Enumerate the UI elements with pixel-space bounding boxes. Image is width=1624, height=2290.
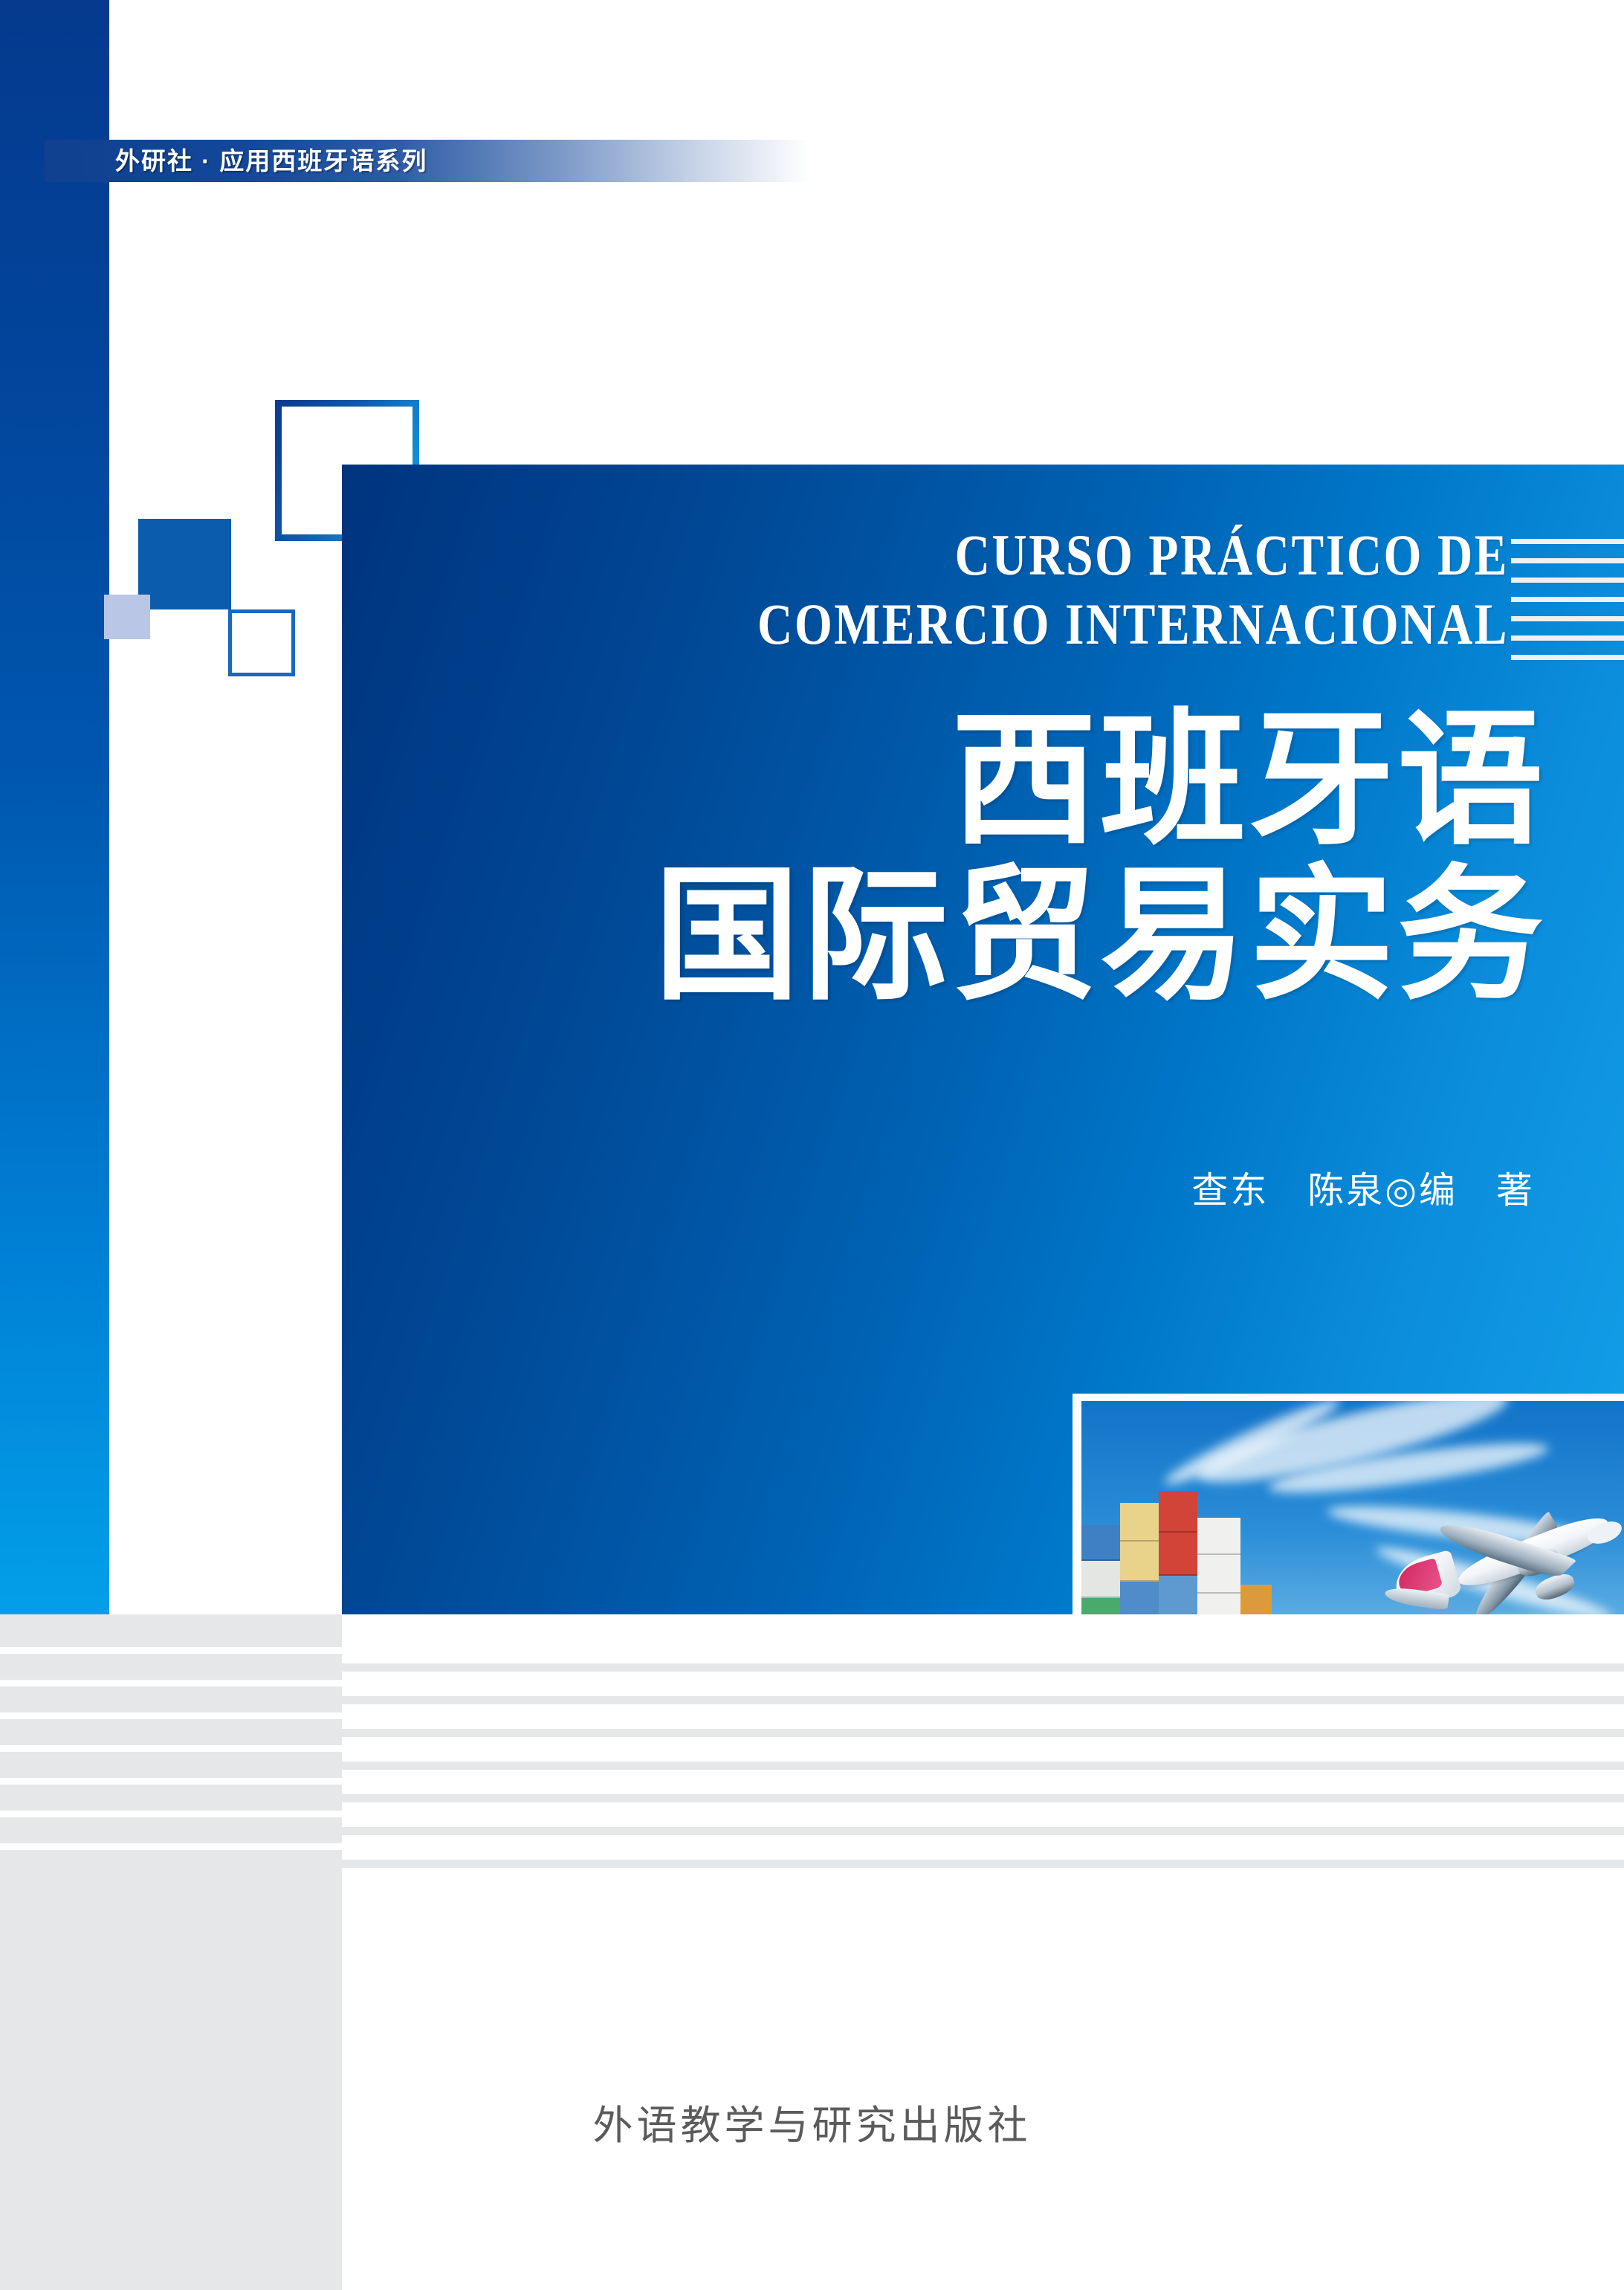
panel-rule-line	[1511, 558, 1624, 563]
panel-rule-line	[1511, 655, 1624, 660]
panel-rule-line	[1511, 578, 1624, 583]
bottom-left-stripe	[0, 1712, 342, 1719]
spanish-title: CURSO PRÁCTICO DE COMERCIO INTERNACIONAL	[528, 520, 1509, 659]
bottom-right-stripe	[342, 1827, 1624, 1835]
bottom-left-stripe	[0, 1647, 342, 1654]
bottom-left-stripe	[0, 1745, 342, 1752]
bottom-stripe-band	[0, 1614, 1624, 2290]
chinese-title: 西班牙语 国际贸易实务	[342, 702, 1546, 1013]
bottom-right-stripe	[342, 1860, 1624, 1868]
book-cover: 外研社 · 应用西班牙语系列 CURSO PRÁCTICO DE COMERCI…	[0, 0, 1624, 2290]
bottom-left-stripe	[0, 1811, 342, 1817]
bottom-right-stripe	[342, 1663, 1624, 1672]
bottom-left-stripe	[0, 1843, 342, 1850]
series-banner-label: 外研社 · 应用西班牙语系列	[115, 141, 635, 181]
left-gradient-spine	[0, 0, 109, 1614]
publisher-name: 外语教学与研究出版社	[0, 2092, 1624, 2151]
bottom-right-stripe	[342, 1762, 1624, 1770]
author-byline: 查东 陈泉◎编 著	[342, 1161, 1535, 1214]
bottom-right-stripe	[342, 1794, 1624, 1802]
chinese-title-line-1: 西班牙语	[342, 702, 1546, 858]
decorative-square-outline-blue	[228, 609, 295, 676]
bottom-right-stripe	[342, 1696, 1624, 1704]
chinese-title-line-2: 国际贸易实务	[342, 858, 1546, 1013]
panel-rule-line	[1511, 616, 1624, 621]
panel-rule-line	[1511, 597, 1624, 602]
bottom-left-stripe	[0, 1680, 342, 1686]
panel-rule-line	[1511, 635, 1624, 641]
spanish-title-line-2: COMERCIO INTERNACIONAL	[528, 589, 1509, 659]
panel-rule-line	[1511, 539, 1624, 544]
decorative-square-filled-blue	[138, 519, 231, 609]
bottom-right-stripe	[342, 1729, 1624, 1737]
bottom-left-stripe	[0, 1778, 342, 1785]
spanish-title-line-1: CURSO PRÁCTICO DE	[528, 520, 1509, 589]
decorative-square-filled-lavender	[104, 595, 150, 639]
